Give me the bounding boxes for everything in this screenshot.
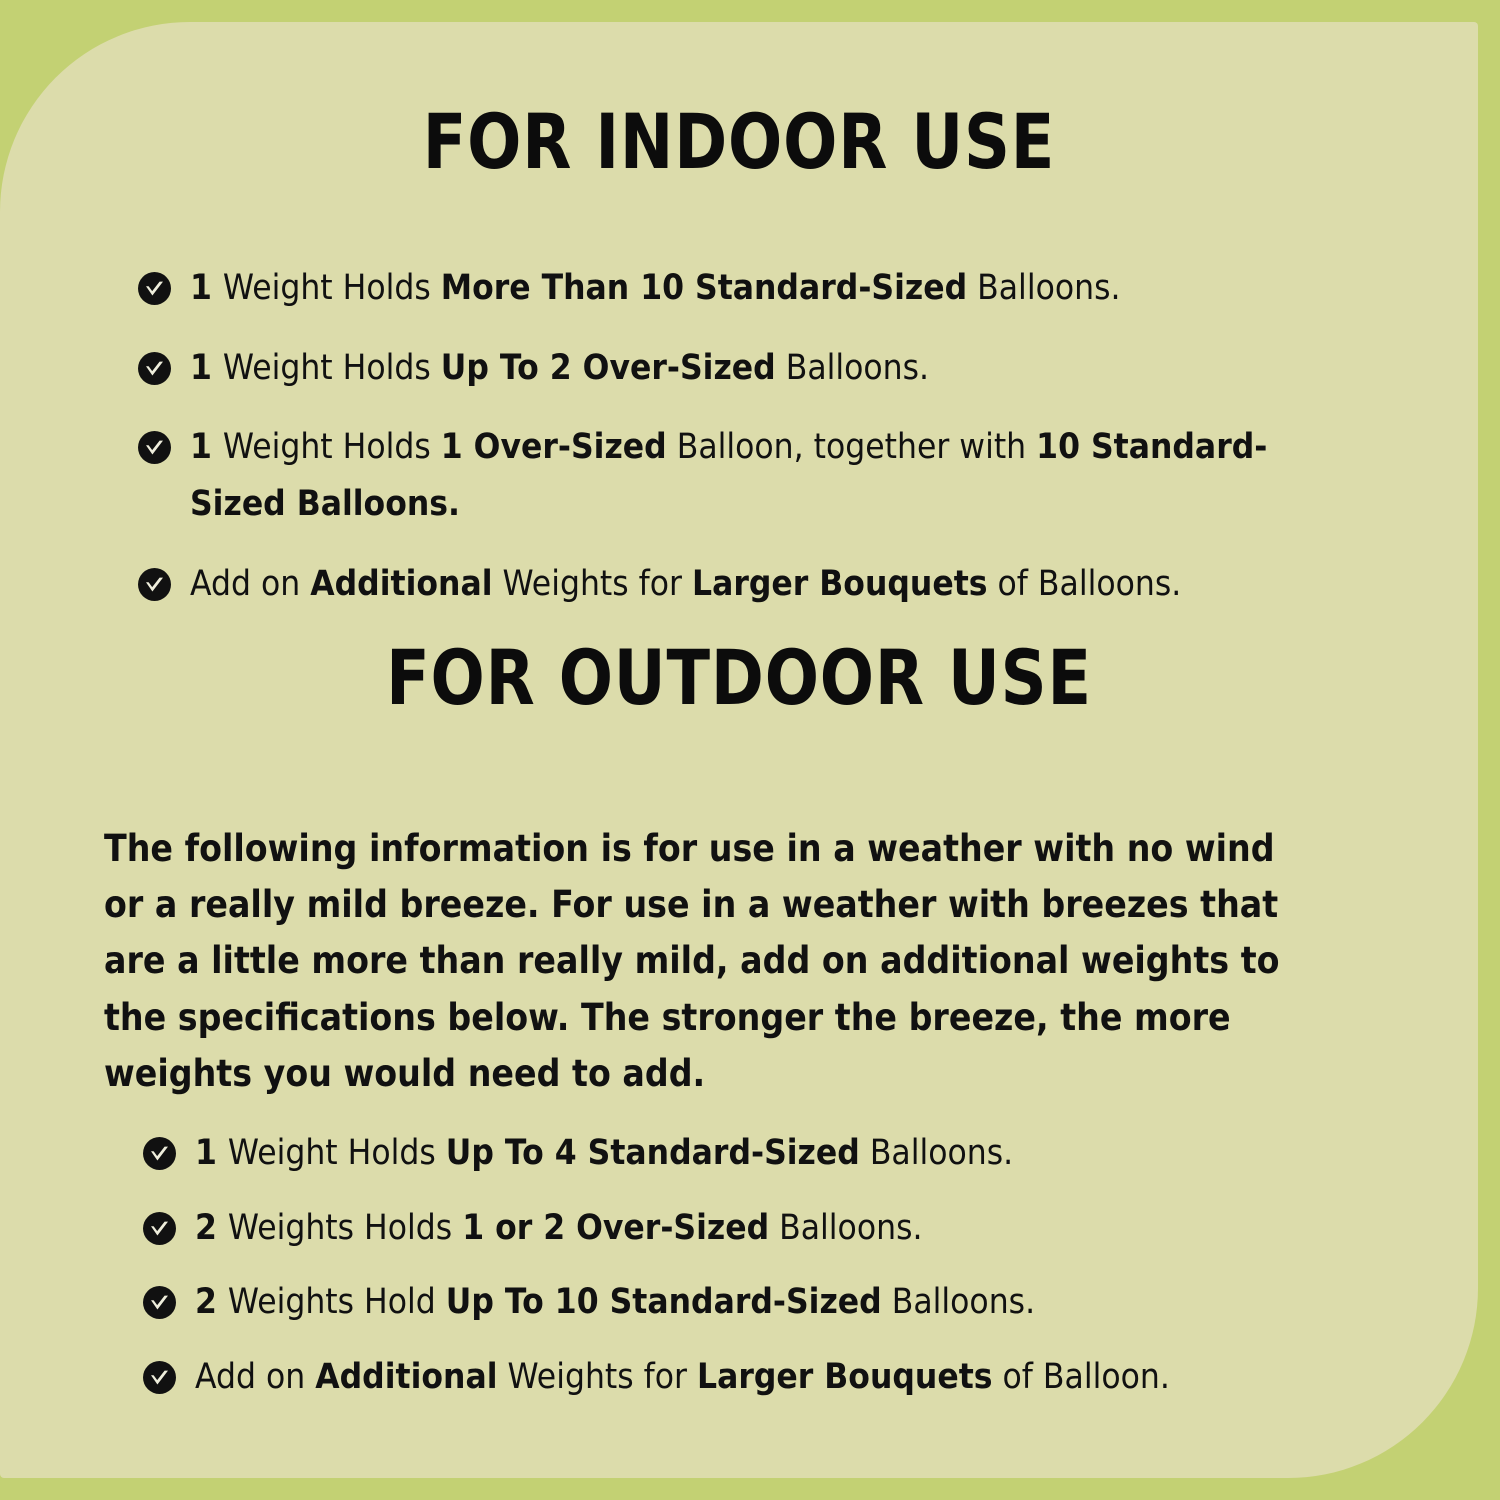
list-item: 2 Weights Holds 1 or 2 Over-Sized Balloo… xyxy=(143,1200,1433,1257)
list-item-label: 1 Weight Holds Up To 4 Standard-Sized Ba… xyxy=(195,1125,1309,1182)
list-item-label: 1 Weight Holds Up To 2 Over-Sized Balloo… xyxy=(190,340,1304,397)
outdoor-bullet-list: 1 Weight Holds Up To 4 Standard-Sized Ba… xyxy=(143,1125,1433,1424)
list-item-label: Add on Additional Weights for Larger Bou… xyxy=(190,556,1304,613)
check-circle-icon xyxy=(138,272,171,305)
check-circle-icon xyxy=(143,1286,176,1319)
list-item-label: Add on Additional Weights for Larger Bou… xyxy=(195,1349,1309,1406)
infographic-card: FOR INDOOR USE 1 Weight Holds More Than … xyxy=(0,22,1478,1478)
outdoor-heading-container: FOR OUTDOOR USE xyxy=(0,640,1478,716)
check-circle-icon xyxy=(138,352,171,385)
check-circle-icon xyxy=(143,1361,176,1394)
indoor-bullet-list: 1 Weight Holds More Than 10 Standard-Siz… xyxy=(138,260,1428,635)
indoor-heading-container: FOR INDOOR USE xyxy=(0,104,1478,180)
check-circle-icon xyxy=(138,568,171,601)
page-title-indoor: FOR INDOOR USE xyxy=(118,104,1360,180)
page-title-outdoor: FOR OUTDOOR USE xyxy=(118,640,1360,716)
list-item-label: 2 Weights Holds 1 or 2 Over-Sized Balloo… xyxy=(195,1200,1309,1257)
list-item: 1 Weight Holds 1 Over-Sized Balloon, tog… xyxy=(138,419,1428,532)
check-circle-icon xyxy=(138,431,171,464)
list-item-label: 2 Weights Hold Up To 10 Standard-Sized B… xyxy=(195,1274,1309,1331)
list-item: 1 Weight Holds Up To 4 Standard-Sized Ba… xyxy=(143,1125,1433,1182)
outdoor-intro-paragraph: The following information is for use in … xyxy=(104,821,1283,1102)
list-item-label: 1 Weight Holds 1 Over-Sized Balloon, tog… xyxy=(190,419,1304,532)
check-circle-icon xyxy=(143,1137,176,1170)
list-item: 1 Weight Holds More Than 10 Standard-Siz… xyxy=(138,260,1428,317)
check-circle-icon xyxy=(143,1212,176,1245)
list-item-label: 1 Weight Holds More Than 10 Standard-Siz… xyxy=(190,260,1304,317)
list-item: Add on Additional Weights for Larger Bou… xyxy=(138,556,1428,613)
list-item: Add on Additional Weights for Larger Bou… xyxy=(143,1349,1433,1406)
list-item: 2 Weights Hold Up To 10 Standard-Sized B… xyxy=(143,1274,1433,1331)
list-item: 1 Weight Holds Up To 2 Over-Sized Balloo… xyxy=(138,340,1428,397)
